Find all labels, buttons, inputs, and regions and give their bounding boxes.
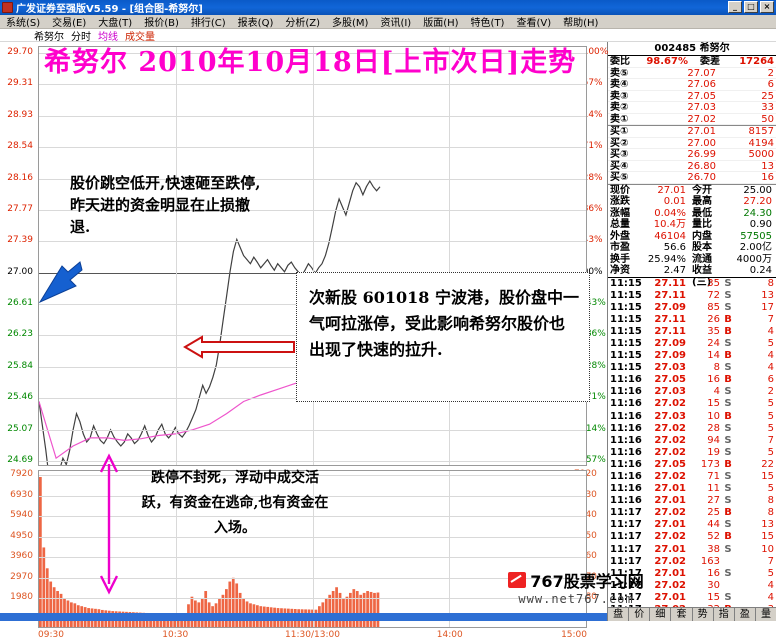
tick-count: 17 <box>736 302 774 314</box>
tick-quantity: 27 <box>690 495 720 507</box>
quote-stat-row: 总量10.4万量比0.90 <box>608 219 776 231</box>
tick-count: 13 <box>736 290 774 302</box>
tick-price: 27.05 <box>642 374 690 386</box>
tick-count: 7 <box>736 556 774 568</box>
tick-list[interactable]: 11:1527.1135S811:1527.1172S1311:1527.098… <box>608 277 776 608</box>
price-tick-label: 25.07 <box>7 425 33 433</box>
tick-price: 27.02 <box>642 531 690 543</box>
volume-bar <box>39 477 42 627</box>
tick-price: 27.11 <box>642 314 690 326</box>
order-ratio-row: 委比 98.67% 委差 17264 <box>608 56 776 68</box>
stat-value-right: 0.90 <box>720 219 774 231</box>
order-volume: 16 <box>728 172 774 183</box>
tick-quantity: 10 <box>690 411 720 423</box>
tick-price: 27.01 <box>642 544 690 556</box>
price-tick-label: 25.46 <box>7 393 33 401</box>
tick-count: 7 <box>736 435 774 447</box>
time-tick-label: 14:00 <box>437 630 463 640</box>
tick-quantity: 71 <box>690 471 720 483</box>
volume-bar <box>352 589 355 627</box>
tick-row[interactable]: 11:1727.0252B15 <box>608 531 776 543</box>
stat-value-left: 2.47 <box>640 265 690 277</box>
tick-side: B <box>720 314 736 326</box>
tick-count: 2 <box>736 386 774 398</box>
ratio-value: 98.67% <box>644 56 700 67</box>
tick-side: S <box>720 519 736 531</box>
tick-side: B <box>720 374 736 386</box>
tick-row[interactable]: 11:1627.0516B6 <box>608 374 776 386</box>
stat-label-left: 现价 <box>610 185 640 197</box>
volume-bar <box>346 597 349 627</box>
order-price: 27.00 <box>644 138 728 149</box>
order-volume: 2 <box>728 68 774 79</box>
stat-value-right: 4000万 <box>720 254 774 266</box>
tick-side: S <box>720 398 736 410</box>
tick-count: 8 <box>736 507 774 519</box>
quote-stat-row: 换手25.94%流通4000万 <box>608 254 776 266</box>
stat-label-left: 涨跌 <box>610 196 640 208</box>
price-tick-label: 28.54 <box>7 142 33 150</box>
annotation-ningbo-port: 次新股 601018 宁波港，股价盘中一气呵拉涨停，受此影响希努尔股价也出现了快… <box>296 272 590 402</box>
price-tick-label: 28.93 <box>7 111 33 119</box>
site-watermark: 767股票学习网 www.net767.com <box>486 568 666 606</box>
tick-price: 27.11 <box>642 326 690 338</box>
quote-tab-3[interactable]: 套 <box>671 608 692 621</box>
time-tick-label: 10:30 <box>162 630 188 640</box>
tick-quantity: 30 <box>690 580 720 592</box>
volume-tick-label: 5940 <box>10 511 33 519</box>
tick-time: 11:16 <box>610 459 642 471</box>
stat-label-left: 总量 <box>610 219 640 231</box>
menu-item-8[interactable]: 资讯(I) <box>374 14 417 29</box>
tick-time: 11:15 <box>610 278 642 290</box>
order-level-label: 买⑤ <box>610 172 644 183</box>
tick-time: 11:16 <box>610 495 642 507</box>
tick-quantity: 4 <box>690 386 720 398</box>
time-tick-label: 15:00 <box>561 630 587 640</box>
tick-row[interactable]: 11:1727.021637 <box>608 556 776 568</box>
tick-time: 11:16 <box>610 471 642 483</box>
tick-quantity: 19 <box>690 447 720 459</box>
sell-order-row[interactable]: 卖③27.0525 <box>608 91 776 103</box>
sell-order-row[interactable]: 卖①27.0250 <box>608 114 776 126</box>
order-volume: 50 <box>728 114 774 125</box>
order-price: 26.70 <box>644 172 728 183</box>
order-volume: 33 <box>728 102 774 113</box>
volume-bar <box>366 591 369 627</box>
maximize-button[interactable]: □ <box>744 1 758 13</box>
session-gridline <box>176 47 177 465</box>
tick-price: 27.01 <box>642 483 690 495</box>
watermark-logo-icon <box>508 572 526 588</box>
order-level-label: 买④ <box>610 161 644 172</box>
tick-row[interactable]: 11:1627.0294S7 <box>608 435 776 447</box>
volume-bar <box>222 595 225 627</box>
order-price: 27.05 <box>644 91 728 102</box>
quote-stat-row: 涨跌0.01最高27.20 <box>608 196 776 208</box>
tick-side: B <box>720 531 736 543</box>
tick-price: 27.02 <box>642 556 690 568</box>
order-volume: 8157 <box>728 126 774 137</box>
tick-quantity: 72 <box>690 290 720 302</box>
volume-tick-label: 1980 <box>10 593 33 601</box>
tick-row[interactable]: 11:1727.0225B8 <box>608 507 776 519</box>
stat-label-right: 流通 <box>690 254 720 266</box>
sell-order-row[interactable]: 卖⑤27.072 <box>608 68 776 80</box>
annotation-open-gap-down: 股价跳空低开,快速砸至跌停,昨天进的资金明显在止损撤退. <box>70 172 270 238</box>
tick-time: 11:17 <box>610 507 642 519</box>
tick-price: 27.03 <box>642 362 690 374</box>
quote-tab-0[interactable]: 盘 <box>608 608 629 621</box>
volume-bar <box>328 595 331 627</box>
volume-bar <box>53 587 56 627</box>
bottom-scroll-strip[interactable] <box>0 613 607 621</box>
app-icon <box>2 2 13 13</box>
order-price: 27.01 <box>644 126 728 137</box>
price-tick-label: 25.84 <box>7 362 33 370</box>
tick-count: 10 <box>736 544 774 556</box>
tick-quantity: 35 <box>690 326 720 338</box>
order-volume: 25 <box>728 91 774 102</box>
tick-row[interactable]: 11:1527.1135S8 <box>608 278 776 290</box>
tick-count: 4 <box>736 580 774 592</box>
order-level-label: 卖② <box>610 102 644 113</box>
stat-value-right: 57505 <box>720 231 774 243</box>
tick-side: S <box>720 338 736 350</box>
stat-value-left: 46104 <box>640 231 690 243</box>
tick-side: B <box>720 350 736 362</box>
quote-tab-2[interactable]: 细 <box>650 608 671 621</box>
volume-tick-label: 7920 <box>10 470 33 478</box>
tick-quantity: 173 <box>690 459 720 471</box>
volume-tick-label: 2970 <box>10 573 33 581</box>
tick-side: S <box>720 471 736 483</box>
menu-item-10[interactable]: 特色(T) <box>465 14 511 29</box>
order-level-label: 卖③ <box>610 91 644 102</box>
tick-time: 11:15 <box>610 350 642 362</box>
stat-value-left: 27.01 <box>640 185 690 197</box>
stat-label-left: 换手 <box>610 254 640 266</box>
tick-price: 27.02 <box>642 435 690 447</box>
time-tick-label: 11:30/13:00 <box>285 630 340 640</box>
stat-label-right: 最高 <box>690 196 720 208</box>
volume-bar <box>204 591 207 627</box>
price-tick-label: 27.00 <box>7 268 33 276</box>
stat-label-right: 收益(三) <box>690 265 720 277</box>
order-level-label: 买③ <box>610 149 644 160</box>
tick-count: 4 <box>736 326 774 338</box>
tick-quantity: 85 <box>690 302 720 314</box>
tick-side: B <box>720 507 736 519</box>
stat-label-left: 市盈 <box>610 242 640 254</box>
stat-label-right: 内盘 <box>690 231 720 243</box>
tick-row[interactable]: 11:1527.1172S13 <box>608 290 776 302</box>
tick-row[interactable]: 11:1527.0924S5 <box>608 338 776 350</box>
order-level-label: 卖① <box>610 114 644 125</box>
quote-stat-row: 涨幅0.04%最低24.30 <box>608 208 776 220</box>
tick-price: 27.03 <box>642 411 690 423</box>
tick-side: S <box>720 278 736 290</box>
order-level-label: 买① <box>610 126 644 137</box>
minimize-button[interactable]: _ <box>728 1 742 13</box>
order-price: 27.06 <box>644 79 728 90</box>
quote-tab-7[interactable]: 量 <box>756 608 776 621</box>
window-title: 广发证券至强版V5.59 - [组合图-希努尔] <box>16 0 203 15</box>
menu-item-5[interactable]: 报表(Q) <box>232 14 280 29</box>
red-left-arrow-icon <box>182 334 298 360</box>
sell-order-book: 卖⑤27.072卖④27.066卖③27.0525卖②27.0333卖①27.0… <box>608 68 776 126</box>
watermark-site-name: 767股票学习网 <box>530 568 643 592</box>
price-tick-label: 24.69 <box>7 456 33 464</box>
tick-side: S <box>720 362 736 374</box>
tick-row[interactable]: 11:1627.0228S5 <box>608 423 776 435</box>
tick-side: B <box>720 411 736 423</box>
tick-price: 27.09 <box>642 302 690 314</box>
volume-bar <box>191 597 194 627</box>
tick-price: 27.03 <box>642 386 690 398</box>
tick-quantity: 14 <box>690 350 720 362</box>
volume-tick-label: 6930 <box>10 491 33 499</box>
tick-count: 5 <box>736 483 774 495</box>
volume-bar <box>359 595 362 627</box>
tick-row[interactable]: 11:1627.0215S5 <box>608 398 776 410</box>
tick-side: S <box>720 544 736 556</box>
buy-order-row[interactable]: 买④26.8013 <box>608 161 776 173</box>
tick-time: 11:16 <box>610 483 642 495</box>
tick-row[interactable]: 11:1627.0271S15 <box>608 471 776 483</box>
window-controls: _ □ × <box>728 1 774 13</box>
tick-time: 11:17 <box>610 519 642 531</box>
tick-quantity: 24 <box>690 338 720 350</box>
tick-time: 11:15 <box>610 290 642 302</box>
tick-side: S <box>720 435 736 447</box>
quote-panel: 002485 希努尔 委比 98.67% 委差 17264 卖⑤27.072卖④… <box>608 42 776 621</box>
tick-side: S <box>720 386 736 398</box>
tick-side: S <box>720 302 736 314</box>
ratio-diff-value: 17264 <box>728 56 774 67</box>
session-gridline <box>313 47 314 465</box>
price-tick-label: 29.31 <box>7 79 33 87</box>
session-gridline <box>449 47 450 465</box>
sell-order-row[interactable]: 卖②27.0333 <box>608 102 776 114</box>
tick-price: 27.02 <box>642 423 690 435</box>
tick-quantity: 28 <box>690 423 720 435</box>
tick-quantity: 16 <box>690 568 720 580</box>
menu-item-9[interactable]: 版面(H) <box>417 14 464 29</box>
close-button[interactable]: × <box>760 1 774 13</box>
stat-label-left: 涨幅 <box>610 208 640 220</box>
stat-value-left: 0.01 <box>640 196 690 208</box>
tick-row[interactable]: 11:1627.0219S5 <box>608 447 776 459</box>
volume-tick-label: 4950 <box>10 532 33 540</box>
stat-label-right: 量比 <box>690 219 720 231</box>
tick-time: 11:17 <box>610 531 642 543</box>
volume-bar <box>56 591 59 627</box>
quote-tabs: 盘价细套势指盈量 <box>608 607 776 621</box>
stat-value-left: 25.94% <box>640 254 690 266</box>
stat-value-left: 10.4万 <box>640 219 690 231</box>
tick-count: 22 <box>736 459 774 471</box>
tick-count: 8 <box>736 495 774 507</box>
tick-quantity: 11 <box>690 483 720 495</box>
tick-time: 11:16 <box>610 411 642 423</box>
tick-quantity: 15 <box>690 592 720 604</box>
tick-count: 5 <box>736 411 774 423</box>
buy-order-row[interactable]: 买①27.018157 <box>608 126 776 138</box>
tick-time: 11:16 <box>610 374 642 386</box>
watermark-url: www.net767.com <box>486 592 666 606</box>
sell-order-row[interactable]: 卖④27.066 <box>608 79 776 91</box>
tick-row[interactable]: 11:1627.05173B22 <box>608 459 776 471</box>
volume-bar <box>356 591 359 627</box>
tick-price: 27.01 <box>642 519 690 531</box>
tick-side: S <box>720 290 736 302</box>
tick-price: 27.11 <box>642 290 690 302</box>
time-axis: 09:3010:3011:30/13:0014:0015:00 <box>38 630 587 642</box>
quote-tab-4[interactable]: 势 <box>693 608 714 621</box>
tick-row[interactable]: 11:1627.0127S8 <box>608 495 776 507</box>
order-price: 26.99 <box>644 149 728 160</box>
quote-statistics: 现价27.01今开25.00涨跌0.01最高27.20涨幅0.04%最低24.3… <box>608 185 776 277</box>
stat-label-right: 最低 <box>690 208 720 220</box>
tick-quantity: 16 <box>690 374 720 386</box>
tick-side: S <box>720 447 736 459</box>
tick-count: 4 <box>736 592 774 604</box>
buy-order-row[interactable]: 买②27.004194 <box>608 138 776 150</box>
tick-count: 5 <box>736 447 774 459</box>
tick-quantity: 35 <box>690 278 720 290</box>
quote-header: 002485 希努尔 <box>608 42 776 56</box>
tick-side: S <box>720 568 736 580</box>
ratio-diff-label: 委差 <box>700 56 728 67</box>
tick-count: 13 <box>736 519 774 531</box>
tick-time: 11:17 <box>610 544 642 556</box>
tick-quantity: 163 <box>690 556 720 568</box>
price-tick-label: 27.39 <box>7 236 33 244</box>
tick-quantity: 44 <box>690 519 720 531</box>
menu-item-7[interactable]: 多股(M) <box>326 14 374 29</box>
price-tick-label: 27.77 <box>7 205 33 213</box>
tick-side: S <box>720 495 736 507</box>
buy-order-book: 买①27.018157买②27.004194买③26.995000买④26.80… <box>608 126 776 184</box>
stat-value-right: 2.00亿 <box>720 242 774 254</box>
tick-quantity: 25 <box>690 507 720 519</box>
tick-row[interactable]: 11:1527.0914B4 <box>608 350 776 362</box>
quote-stat-row: 现价27.01今开25.00 <box>608 185 776 197</box>
stat-label-right: 今开 <box>690 185 720 197</box>
order-price: 26.80 <box>644 161 728 172</box>
stat-label-left: 净资 <box>610 265 640 277</box>
volume-bar <box>370 592 373 627</box>
tick-time: 11:15 <box>610 338 642 350</box>
tick-count: 6 <box>736 374 774 386</box>
buy-order-row[interactable]: 买③26.995000 <box>608 149 776 161</box>
order-volume: 4194 <box>728 138 774 149</box>
order-volume: 6 <box>728 79 774 90</box>
tick-count: 5 <box>736 423 774 435</box>
chart-title-banner: 希努尔 2010年10月18日[上市次日]走势 <box>44 40 576 79</box>
tick-time: 11:16 <box>610 447 642 459</box>
price-tick-label: 26.61 <box>7 299 33 307</box>
tick-price: 27.09 <box>642 338 690 350</box>
stat-value-right: 24.30 <box>720 208 774 220</box>
quote-tab-1[interactable]: 价 <box>629 608 650 621</box>
order-price: 27.02 <box>644 114 728 125</box>
menu-item-12[interactable]: 帮助(H) <box>557 14 604 29</box>
tick-price: 27.09 <box>642 350 690 362</box>
tick-quantity: 8 <box>690 362 720 374</box>
tick-count: 7 <box>736 314 774 326</box>
tick-side <box>720 556 736 568</box>
buy-order-row[interactable]: 买⑤26.7016 <box>608 172 776 184</box>
tick-price: 27.02 <box>642 447 690 459</box>
tick-row[interactable]: 11:1727.0144S13 <box>608 519 776 531</box>
tick-count: 4 <box>736 362 774 374</box>
tick-row[interactable]: 11:1527.1135B4 <box>608 326 776 338</box>
order-level-label: 卖④ <box>610 79 644 90</box>
tick-quantity: 26 <box>690 314 720 326</box>
window-titlebar: 广发证券至强版V5.59 - [组合图-希努尔] _ □ × <box>0 0 776 15</box>
quote-tab-6[interactable]: 盈 <box>735 608 756 621</box>
tick-side: S <box>720 423 736 435</box>
tick-time: 11:15 <box>610 314 642 326</box>
tick-price: 27.02 <box>642 471 690 483</box>
price-tick-label: 26.23 <box>7 330 33 338</box>
menu-item-6[interactable]: 分析(Z) <box>279 14 326 29</box>
intraday-price-plot[interactable] <box>38 46 587 466</box>
stat-value-right: 25.00 <box>720 185 774 197</box>
menu-item-4[interactable]: 排行(C) <box>185 14 232 29</box>
tick-time: 11:17 <box>610 556 642 568</box>
tick-side: B <box>720 326 736 338</box>
tick-time: 11:15 <box>610 362 642 374</box>
order-level-label: 买② <box>610 138 644 149</box>
ratio-label: 委比 <box>610 56 644 67</box>
menu-item-11[interactable]: 查看(V) <box>510 14 557 29</box>
volume-bar <box>225 589 228 627</box>
tick-count: 4 <box>736 350 774 362</box>
tick-quantity: 52 <box>690 531 720 543</box>
price-tick-label: 29.70 <box>7 48 33 56</box>
order-level-label: 卖⑤ <box>610 68 644 79</box>
tick-row[interactable]: 11:1527.038S4 <box>608 362 776 374</box>
quote-stat-row: 外盘46104内盘57505 <box>608 231 776 243</box>
tick-row[interactable]: 11:1627.0310B5 <box>608 411 776 423</box>
quote-tab-5[interactable]: 指 <box>714 608 735 621</box>
order-volume: 13 <box>728 161 774 172</box>
tick-row[interactable]: 11:1527.1126B7 <box>608 314 776 326</box>
stat-value-right: 27.20 <box>720 196 774 208</box>
tick-row[interactable]: 11:1627.034S2 <box>608 386 776 398</box>
tick-row[interactable]: 11:1727.0138S10 <box>608 544 776 556</box>
tick-side: S <box>720 483 736 495</box>
volume-tick-label: 3960 <box>10 552 33 560</box>
tick-price: 27.01 <box>642 495 690 507</box>
tick-price: 27.05 <box>642 459 690 471</box>
tick-row[interactable]: 11:1627.0111S5 <box>608 483 776 495</box>
order-volume: 5000 <box>728 149 774 160</box>
tick-time: 11:16 <box>610 423 642 435</box>
blue-arrow-icon <box>32 258 92 324</box>
tick-row[interactable]: 11:1527.0985S17 <box>608 302 776 314</box>
tick-quantity: 15 <box>690 398 720 410</box>
tick-side <box>720 580 736 592</box>
tick-time: 11:16 <box>610 435 642 447</box>
tick-side: B <box>720 459 736 471</box>
order-price: 27.03 <box>644 102 728 113</box>
tick-count: 15 <box>736 471 774 483</box>
order-price: 27.07 <box>644 68 728 79</box>
